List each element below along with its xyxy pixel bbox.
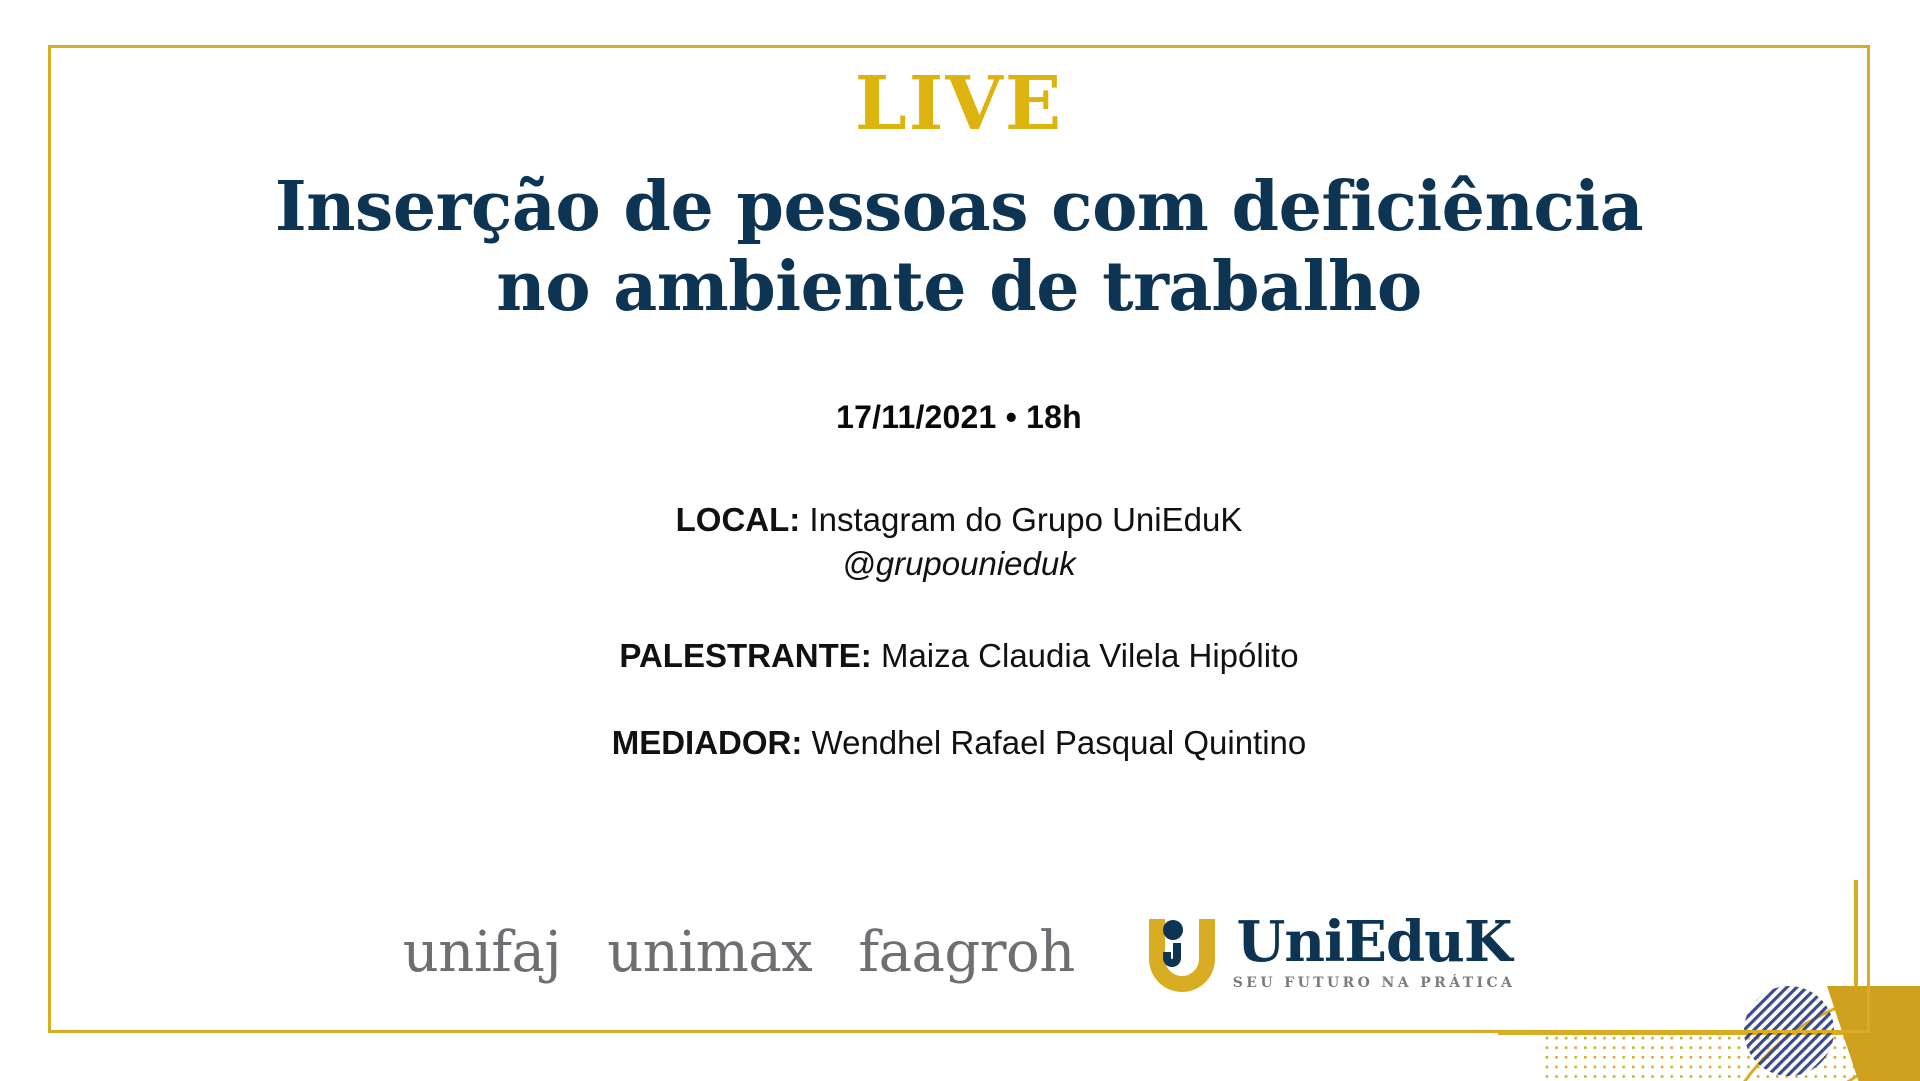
- live-badge: LIVE: [855, 67, 1063, 141]
- unifaj-logo: unifaj: [403, 925, 562, 981]
- detail-row-mediador: MEDIADOR: Wendhel Rafael Pasqual Quintin…: [612, 721, 1307, 765]
- event-datetime: 17/11/2021 • 18h: [836, 399, 1082, 436]
- gold-arc-inner: [1790, 1060, 1920, 1081]
- unimax-logo: unimax: [607, 925, 812, 981]
- detail-label-mediador: MEDIADOR:: [612, 724, 803, 761]
- unieduk-wordmark: UniEduK SEU FUTURO NA PRÁTICA: [1233, 915, 1516, 991]
- logo-strip: unifaj unimax faagroh UniEduK SEU FUTURO…: [48, 913, 1870, 993]
- unieduk-mark-icon: [1143, 913, 1221, 993]
- event-details: LOCAL: Instagram do Grupo UniEduK @grupo…: [612, 498, 1307, 764]
- gold-dot-grid: [1540, 1035, 1920, 1081]
- unieduk-tagline: SEU FUTURO NA PRÁTICA: [1233, 975, 1516, 991]
- live-event-poster: LIVE Inserção de pessoas com deficiência…: [0, 0, 1920, 1081]
- title-line-1: Inserção de pessoas com deficiência: [275, 167, 1643, 247]
- detail-label-palestrante: PALESTRANTE:: [619, 637, 871, 674]
- instagram-handle: @grupounieduk: [842, 542, 1076, 586]
- unieduk-name: UniEduK: [1233, 915, 1516, 970]
- poster-content: LIVE Inserção de pessoas com deficiência…: [48, 45, 1870, 1033]
- page-title: Inserção de pessoas com deficiência no a…: [275, 167, 1643, 327]
- detail-label-local: LOCAL:: [676, 501, 801, 538]
- faagroh-logo: faagroh: [858, 925, 1074, 981]
- unieduk-logo: UniEduK SEU FUTURO NA PRÁTICA: [1143, 913, 1516, 993]
- detail-value-local: Instagram do Grupo UniEduK: [800, 501, 1242, 538]
- detail-value-palestrante: Maiza Claudia Vilela Hipólito: [872, 637, 1299, 674]
- detail-row-palestrante: PALESTRANTE: Maiza Claudia Vilela Hipóli…: [619, 634, 1298, 678]
- detail-value-mediador: Wendhel Rafael Pasqual Quintino: [802, 724, 1306, 761]
- title-line-2: no ambiente de trabalho: [275, 247, 1643, 327]
- detail-row-local: LOCAL: Instagram do Grupo UniEduK: [676, 498, 1243, 542]
